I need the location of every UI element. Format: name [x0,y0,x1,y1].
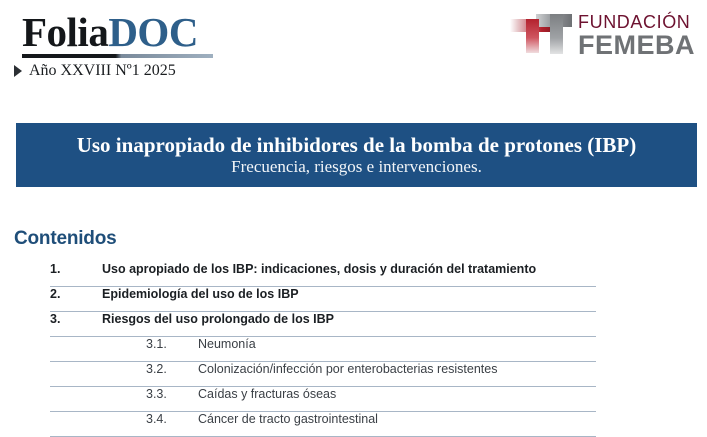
issue-label: Año XXVIII Nº1 2025 [29,62,176,80]
triangle-right-icon [14,65,22,77]
toc-row[interactable]: 3.Riesgos del uso prolongado de los IBP [50,312,596,337]
toc-number: 3. [50,312,102,326]
toc-label: Colonización/infección por enterobacteri… [198,362,497,376]
contents-section: Contenidos 1.Uso apropiado de los IBP: i… [14,228,707,437]
toc-number: 3.1. [50,337,198,351]
toc-row[interactable]: 2.Epidemiología del uso de los IBP [50,287,596,312]
issue-line: Año XXVIII Nº1 2025 [14,62,176,80]
foliadoc-wordmark: FoliaDOC [22,12,213,53]
toc-number: 2. [50,287,102,301]
article-title: Uso inapropiado de inhibidores de la bom… [77,133,637,157]
wordmark-folia: Folia [22,9,108,55]
mark-gray-vertical [550,14,563,54]
femeba-fundacion-text: FUNDACIÓN [578,13,695,31]
toc-number: 3.4. [50,412,198,426]
contents-heading: Contenidos [14,228,707,250]
toc-row[interactable]: 3.2.Colonización/infección por enterobac… [50,362,596,387]
femeba-name-text: FEMEBA [578,32,695,59]
toc-label: Riesgos del uso prolongado de los IBP [102,312,334,326]
femeba-wordmark: FUNDACIÓN FEMEBA [578,12,695,59]
femeba-cross-mark-icon [510,14,572,58]
toc-label: Caídas y fracturas óseas [198,387,336,401]
fundacion-femeba-logo: FUNDACIÓN FEMEBA [510,12,695,59]
toc-row[interactable]: 3.4.Cáncer de tracto gastrointestinal [50,412,596,437]
foliadoc-logo: FoliaDOC [22,12,213,58]
toc-label: Cáncer de tracto gastrointestinal [198,412,378,426]
article-subtitle: Frecuencia, riesgos e intervenciones. [231,157,482,177]
table-of-contents: 1.Uso apropiado de los IBP: indicaciones… [50,262,596,437]
toc-row[interactable]: 3.3.Caídas y fracturas óseas [50,387,596,412]
document-header: FoliaDOC Año XXVIII Nº1 2025 FUNDACIÓN F… [0,0,707,105]
toc-number: 1. [50,262,102,276]
toc-row[interactable]: 3.1.Neumonía [50,337,596,362]
toc-number: 3.3. [50,387,198,401]
toc-number: 3.2. [50,362,198,376]
article-title-banner: Uso inapropiado de inhibidores de la bom… [16,123,697,187]
wordmark-doc: DOC [108,9,198,55]
toc-row[interactable]: 1.Uso apropiado de los IBP: indicaciones… [50,262,596,287]
toc-label: Neumonía [198,337,256,351]
toc-label: Uso apropiado de los IBP: indicaciones, … [102,262,536,276]
toc-label: Epidemiología del uso de los IBP [102,287,299,301]
mark-red-vertical [526,19,539,53]
